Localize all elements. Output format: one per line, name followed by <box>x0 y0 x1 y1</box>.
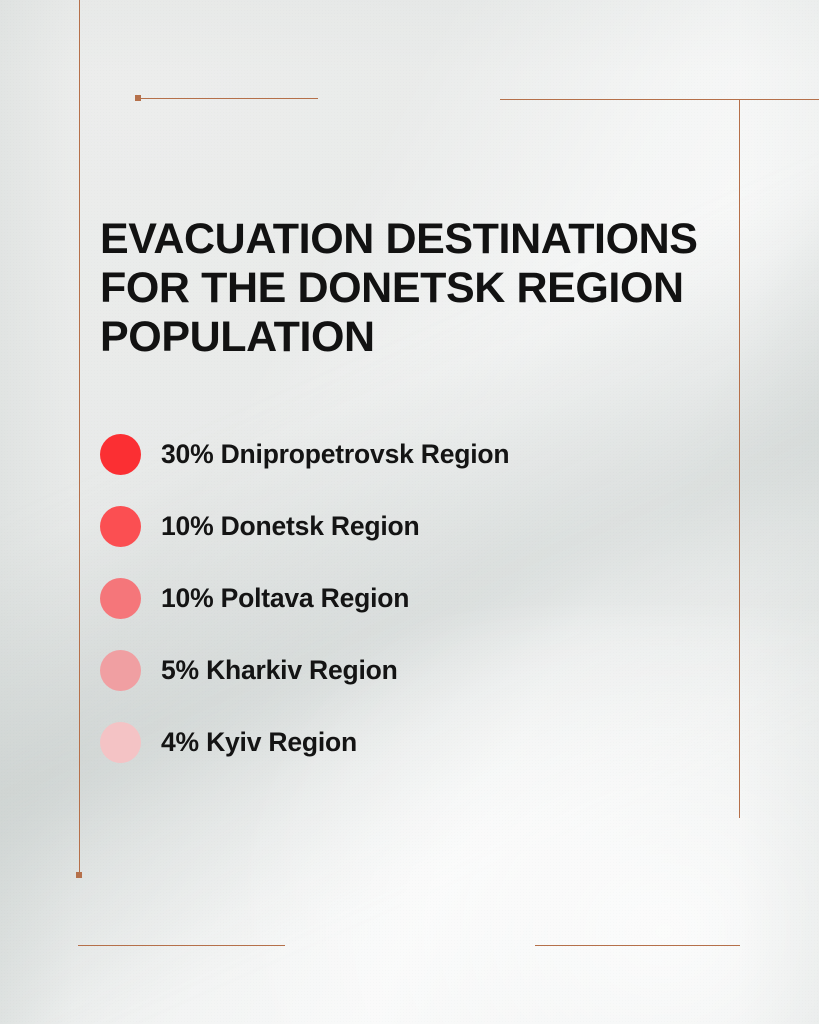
infographic-poster: Evacuation destinations for the Donetsk … <box>0 0 819 1024</box>
decorative-line-bottom-right-horizontal <box>535 945 740 947</box>
legend-swatch-kharkiv-region <box>100 650 141 691</box>
list-item: 10% Poltava Region <box>100 574 760 622</box>
decorative-line-bottom-left-horizontal <box>78 945 285 947</box>
legend-swatch-poltava-region <box>100 578 141 619</box>
legend-swatch-kyiv-region <box>100 722 141 763</box>
legend-swatch-donetsk-region <box>100 506 141 547</box>
poster-content: Evacuation destinations for the Donetsk … <box>100 215 760 766</box>
legend-label-kyiv-region: 4% Kyiv Region <box>161 727 357 757</box>
legend-label-dnipropetrovsk-region: 30% Dnipropetrovsk Region <box>161 439 509 469</box>
list-item: 10% Donetsk Region <box>100 502 760 550</box>
decorative-line-left-vertical <box>79 0 81 878</box>
decorative-cap-top-left-horizontal <box>135 95 141 101</box>
page-title: Evacuation destinations for the Donetsk … <box>100 215 760 362</box>
legend-label-kharkiv-region: 5% Kharkiv Region <box>161 655 398 685</box>
list-item: 5% Kharkiv Region <box>100 646 760 694</box>
decorative-cap-left-vertical-bottom <box>76 872 82 878</box>
decorative-line-top-left-horizontal <box>138 98 318 100</box>
legend-label-poltava-region: 10% Poltava Region <box>161 583 409 613</box>
list-item: 4% Kyiv Region <box>100 718 760 766</box>
legend-label-donetsk-region: 10% Donetsk Region <box>161 511 420 541</box>
decorative-line-top-right-horizontal <box>500 99 819 101</box>
list-item: 30% Dnipropetrovsk Region <box>100 430 760 478</box>
chart-legend: 30% Dnipropetrovsk Region 10% Donetsk Re… <box>100 430 760 766</box>
legend-swatch-dnipropetrovsk-region <box>100 434 141 475</box>
